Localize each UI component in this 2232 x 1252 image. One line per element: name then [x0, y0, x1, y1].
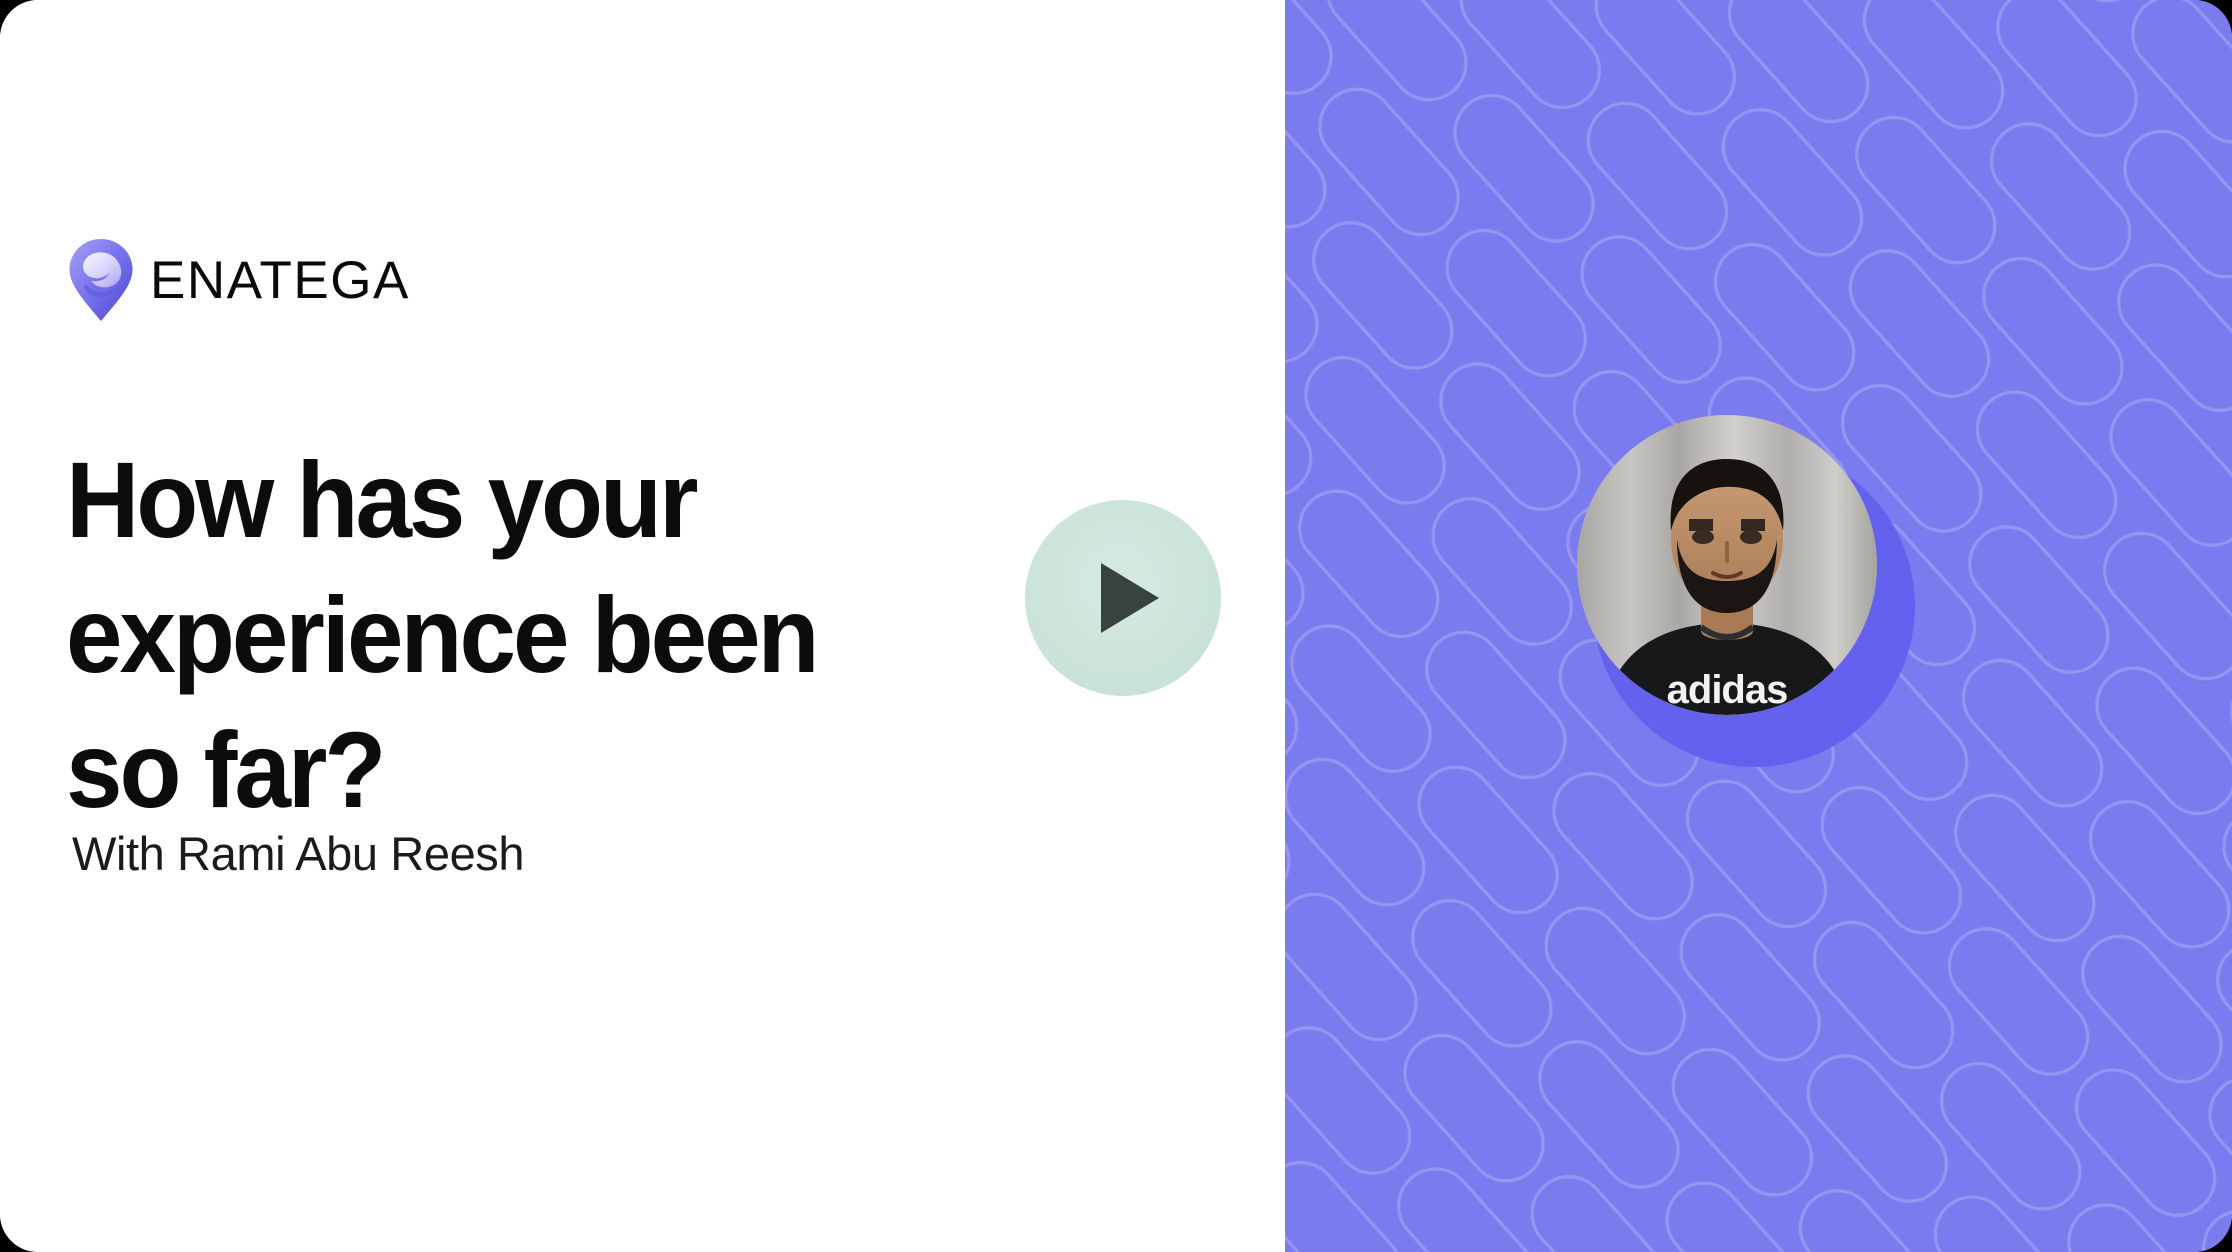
headline-line-1: How has your [66, 439, 696, 560]
avatar: adidas [1515, 380, 1995, 840]
brand-lockup: ENATEGA [68, 238, 410, 322]
play-triangle-icon [1101, 563, 1159, 633]
left-content-panel: ENATEGA How has your experience been so … [0, 0, 1285, 1252]
svg-text:adidas: adidas [1667, 668, 1788, 712]
enatega-pin-logo-icon [68, 238, 134, 322]
subtitle-speaker-name: With Rami Abu Reesh [72, 826, 524, 881]
avatar-photo: adidas [1577, 415, 1877, 715]
brand-name: ENATEGA [150, 254, 410, 307]
page-title: How has your experience been so far? [66, 432, 987, 837]
testimonial-card: ENATEGA How has your experience been so … [0, 0, 2232, 1252]
headline-line-2: experience been [66, 574, 817, 695]
right-visual-panel: adidas [1285, 0, 2232, 1252]
headline-line-3: so far? [66, 709, 383, 830]
play-video-button[interactable] [1025, 500, 1221, 696]
